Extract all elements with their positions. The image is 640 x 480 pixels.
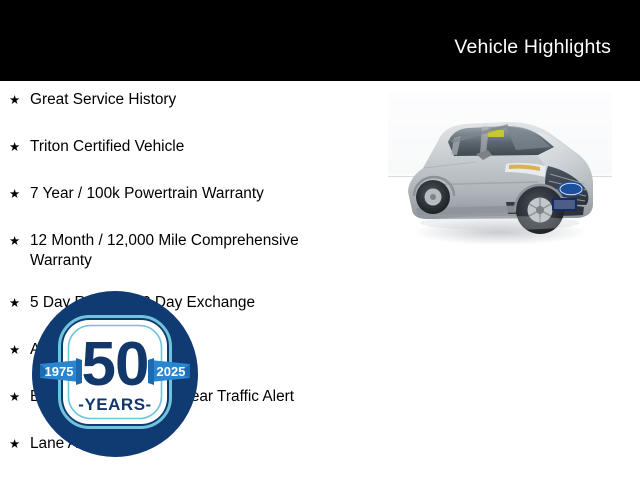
list-item: ★ 12 Month / 12,000 Mile Comprehensive W…: [0, 231, 388, 270]
star-bullet-icon: ★: [9, 184, 30, 204]
badge-number: 50: [82, 330, 149, 399]
start-year-text: 1975: [45, 364, 74, 379]
fifty-years-badge-icon: 1975 2025 50 -YEARS-: [32, 290, 198, 458]
badge-years-label: -YEARS-: [78, 395, 151, 414]
suv-illustration: [388, 92, 612, 259]
star-bullet-icon: ★: [9, 231, 30, 251]
star-bullet-icon: ★: [9, 90, 30, 110]
main-content: ★ Great Service History ★ Triton Certifi…: [0, 81, 640, 480]
list-item: ★ 7 Year / 100k Powertrain Warranty: [0, 184, 388, 208]
list-item: ★ Triton Certified Vehicle: [0, 137, 388, 161]
list-item: ★ Great Service History: [0, 90, 388, 114]
vehicle-photo: [388, 92, 612, 259]
end-year-text: 2025: [157, 364, 186, 379]
anniversary-badge: 1975 2025 50 -YEARS-: [32, 290, 198, 458]
star-bullet-icon: ★: [9, 340, 30, 360]
star-bullet-icon: ★: [9, 137, 30, 157]
star-bullet-icon: ★: [9, 387, 30, 407]
highlight-label: Triton Certified Vehicle: [30, 137, 388, 157]
highlight-label: 12 Month / 12,000 Mile Comprehensive War…: [30, 231, 388, 270]
star-bullet-icon: ★: [9, 293, 30, 313]
star-bullet-icon: ★: [9, 434, 30, 454]
highlight-label: 7 Year / 100k Powertrain Warranty: [30, 184, 388, 204]
page-title: Vehicle Highlights: [454, 22, 640, 59]
header-bar: Vehicle Highlights: [0, 0, 640, 81]
highlight-label: Great Service History: [30, 90, 388, 110]
